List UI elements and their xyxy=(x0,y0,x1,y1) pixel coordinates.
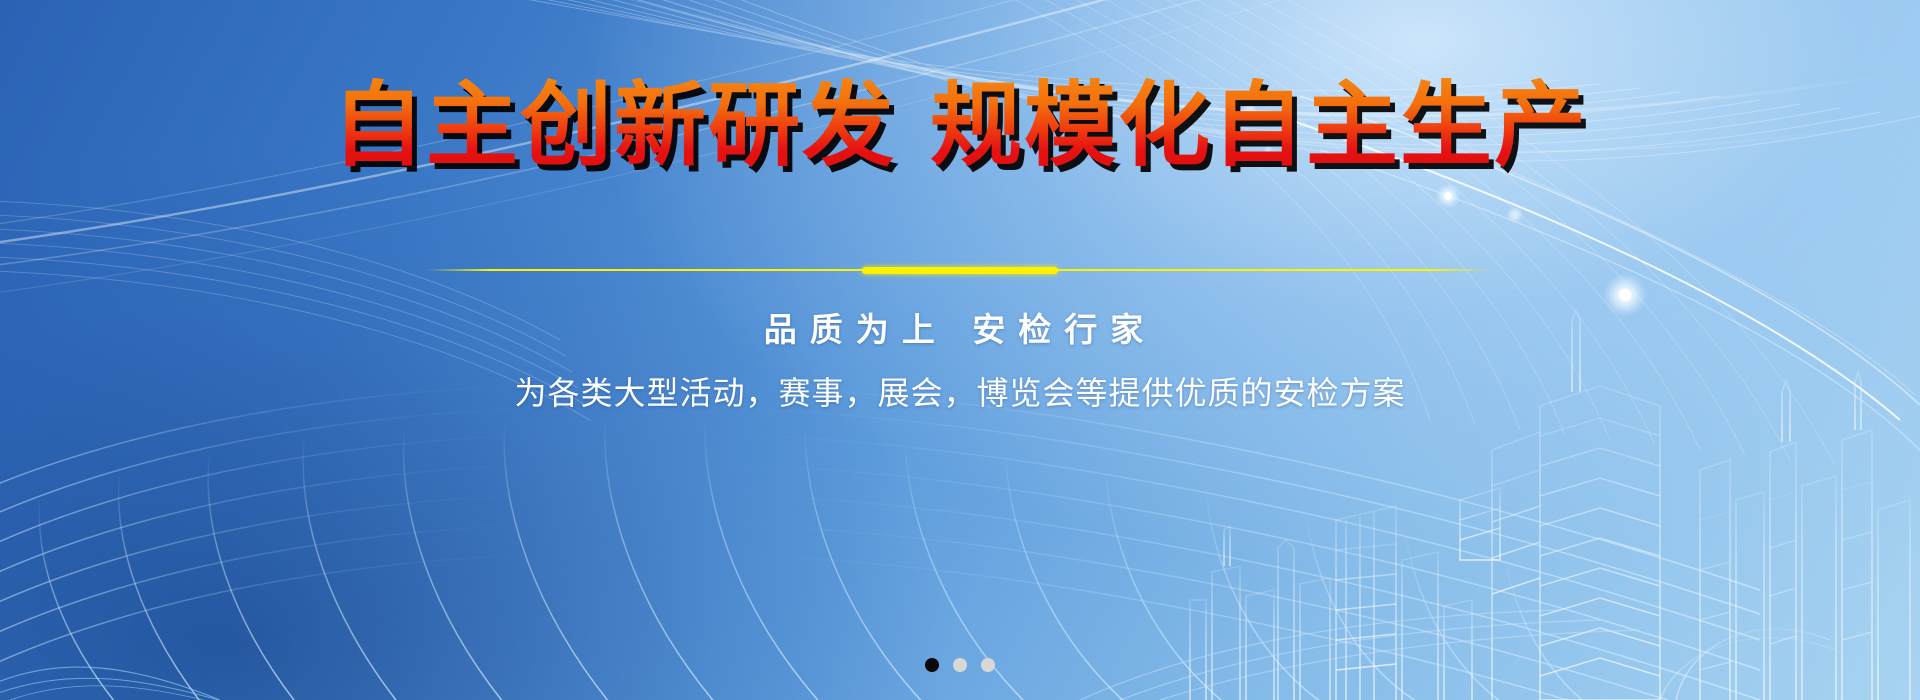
banner-subtitle-secondary: 为各类大型活动，赛事，展会，博览会等提供优质的安检方案 xyxy=(0,371,1920,416)
wireframe-mesh xyxy=(0,383,1760,700)
banner-title: 自主创新研发 规模化自主生产 xyxy=(332,78,1588,175)
banner-subtitle-primary: 品质为上 安检行家 xyxy=(0,305,1920,355)
banner-title-container: 自主创新研发 规模化自主生产 xyxy=(0,78,1920,175)
carousel-dot-3[interactable] xyxy=(981,658,995,672)
divider-accent-bar xyxy=(862,267,1058,274)
hero-banner: 自主创新研发 规模化自主生产 品质为上 安检行家 为各类大型活动，赛事，展会，博… xyxy=(0,0,1920,700)
banner-subtitle-container: 品质为上 安检行家 为各类大型活动，赛事，展会，博览会等提供优质的安检方案 xyxy=(0,305,1920,415)
divider-line xyxy=(426,265,1494,275)
carousel-dot-2[interactable] xyxy=(953,658,967,672)
carousel-pagination[interactable] xyxy=(0,658,1920,672)
title-divider xyxy=(0,262,1920,278)
ground-lines xyxy=(1080,610,1640,700)
carousel-dot-1[interactable] xyxy=(925,658,939,672)
